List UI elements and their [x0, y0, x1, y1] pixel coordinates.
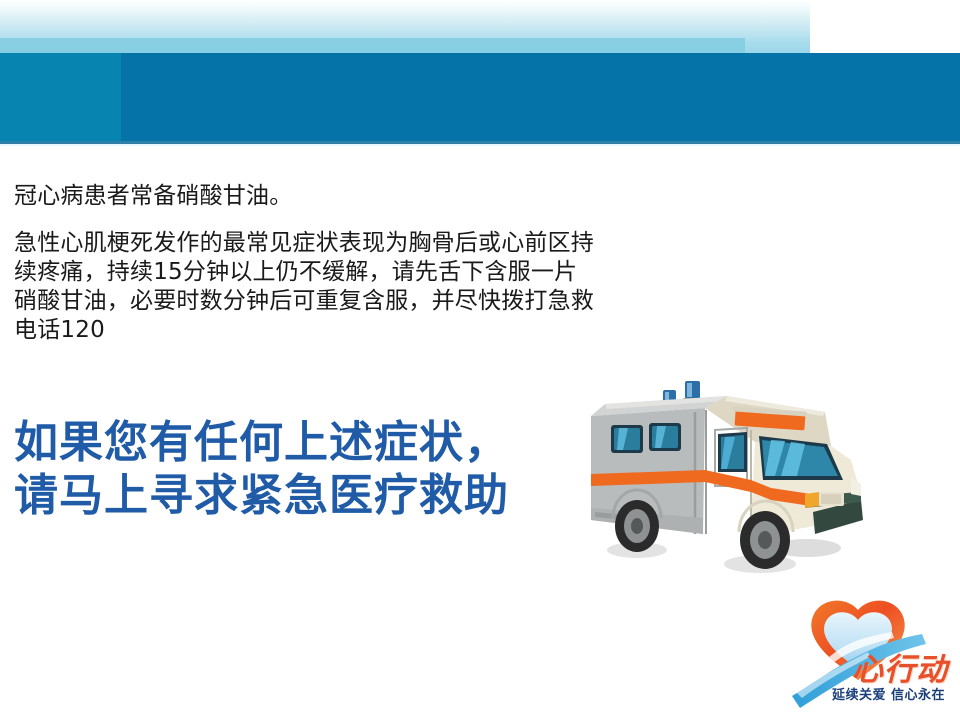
ambulance-illustration — [575, 368, 905, 593]
body-paragraph-1: 冠心病患者常备硝酸甘油。 — [14, 182, 594, 211]
header-bar-left-block — [0, 53, 121, 142]
header-bar-main-block — [121, 53, 960, 142]
header-underline-highlight — [0, 144, 960, 146]
ambulance-rear-wheel — [615, 500, 659, 552]
slide-header-banner — [0, 0, 960, 145]
headline-line-2: 请马上寻求紧急医疗救助 — [14, 469, 594, 522]
logo-tagline: 延续关爱 信心永在 — [832, 684, 945, 703]
header-accent-strip — [0, 38, 745, 53]
body-paragraph-2: 急性心肌梗死发作的最常见症状表现为胸骨后或心前区持续疼痛，持续15分钟以上仍不缓… — [14, 229, 594, 345]
ambulance-front-wheel — [740, 511, 790, 569]
headline-block: 如果您有任何上述症状， 请马上寻求紧急医疗救助 — [14, 416, 594, 522]
body-text-block: 冠心病患者常备硝酸甘油。 急性心肌梗死发作的最常见症状表现为胸骨后或心前区持续疼… — [14, 182, 594, 345]
headline-line-1: 如果您有任何上述症状， — [14, 416, 594, 469]
logo-wordmark: 心行动 — [852, 644, 948, 689]
brand-logo: 心行动 延续关爱 信心永在 — [790, 592, 960, 720]
slide-canvas: 冠心病患者常备硝酸甘油。 急性心肌梗死发作的最常见症状表现为胸骨后或心前区持续疼… — [0, 0, 960, 720]
